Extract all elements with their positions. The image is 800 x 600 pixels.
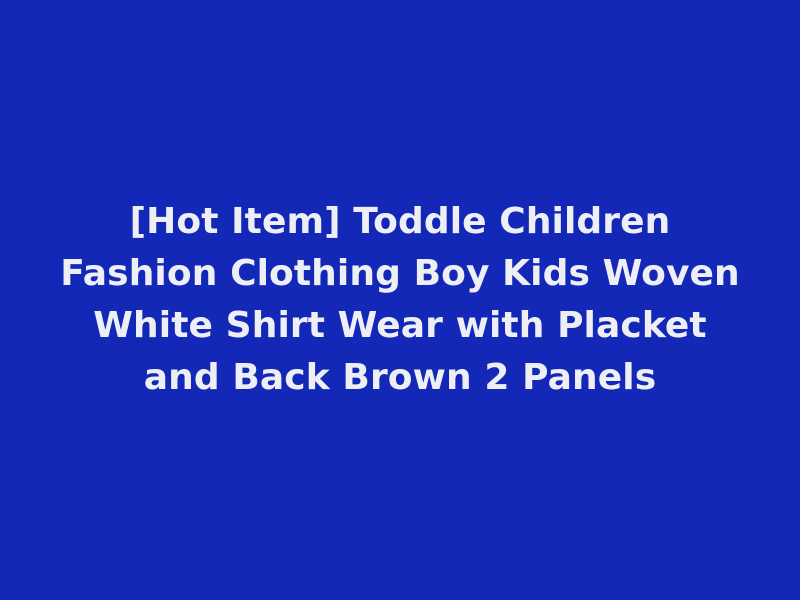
- product-title-card: [Hot Item] Toddle Children Fashion Cloth…: [0, 0, 800, 600]
- page-title: [Hot Item] Toddle Children Fashion Cloth…: [60, 196, 740, 404]
- title-block: [Hot Item] Toddle Children Fashion Cloth…: [55, 196, 745, 404]
